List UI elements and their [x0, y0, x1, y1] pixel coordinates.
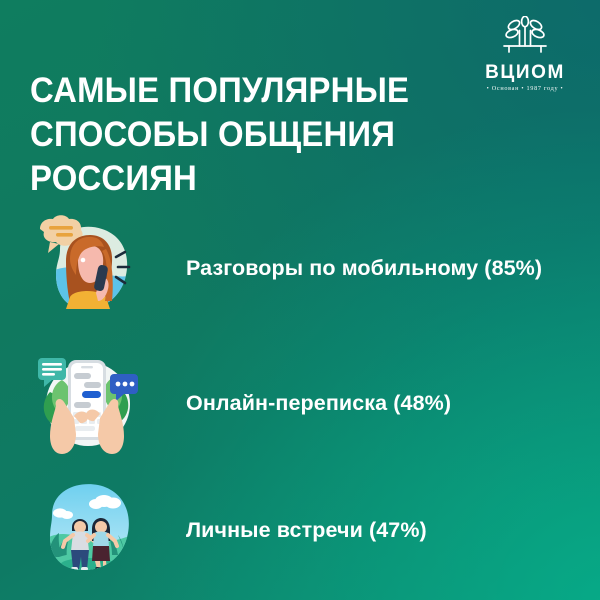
title-line-1: САМЫЕ ПОПУЛЯРНЫЕ [30, 69, 434, 113]
couple-meeting-outdoors-icon [26, 471, 146, 589]
title-line-2: СПОСОБЫ ОБЩЕНИЯ [30, 113, 434, 157]
title-line-3: РОССИЯН [30, 157, 434, 201]
logo-wordmark: ВЦИОМ [472, 63, 578, 82]
list-item-label: Личные встречи (47%) [186, 518, 427, 543]
list-item: Онлайн-переписка (48%) [0, 343, 600, 463]
logo-tagline: • Основан • 1987 году • [472, 86, 578, 92]
vciom-logo: ВЦИОМ • Основан • 1987 году • [472, 16, 578, 92]
tree-icon [497, 16, 553, 62]
page-title: САМЫЕ ПОПУЛЯРНЫЕ СПОСОБЫ ОБЩЕНИЯ РОССИЯН [30, 69, 434, 201]
woman-on-phone-icon [26, 209, 146, 327]
hands-texting-phone-icon [26, 344, 146, 462]
infographic-poster: ВЦИОМ • Основан • 1987 году • САМЫЕ ПОПУ… [0, 0, 600, 600]
list-item: Личные встречи (47%) [0, 470, 600, 590]
list-item: Разговоры по мобильному (85%) [0, 208, 600, 328]
list-item-label: Разговоры по мобильному (85%) [186, 256, 542, 281]
list-item-label: Онлайн-переписка (48%) [186, 391, 451, 416]
